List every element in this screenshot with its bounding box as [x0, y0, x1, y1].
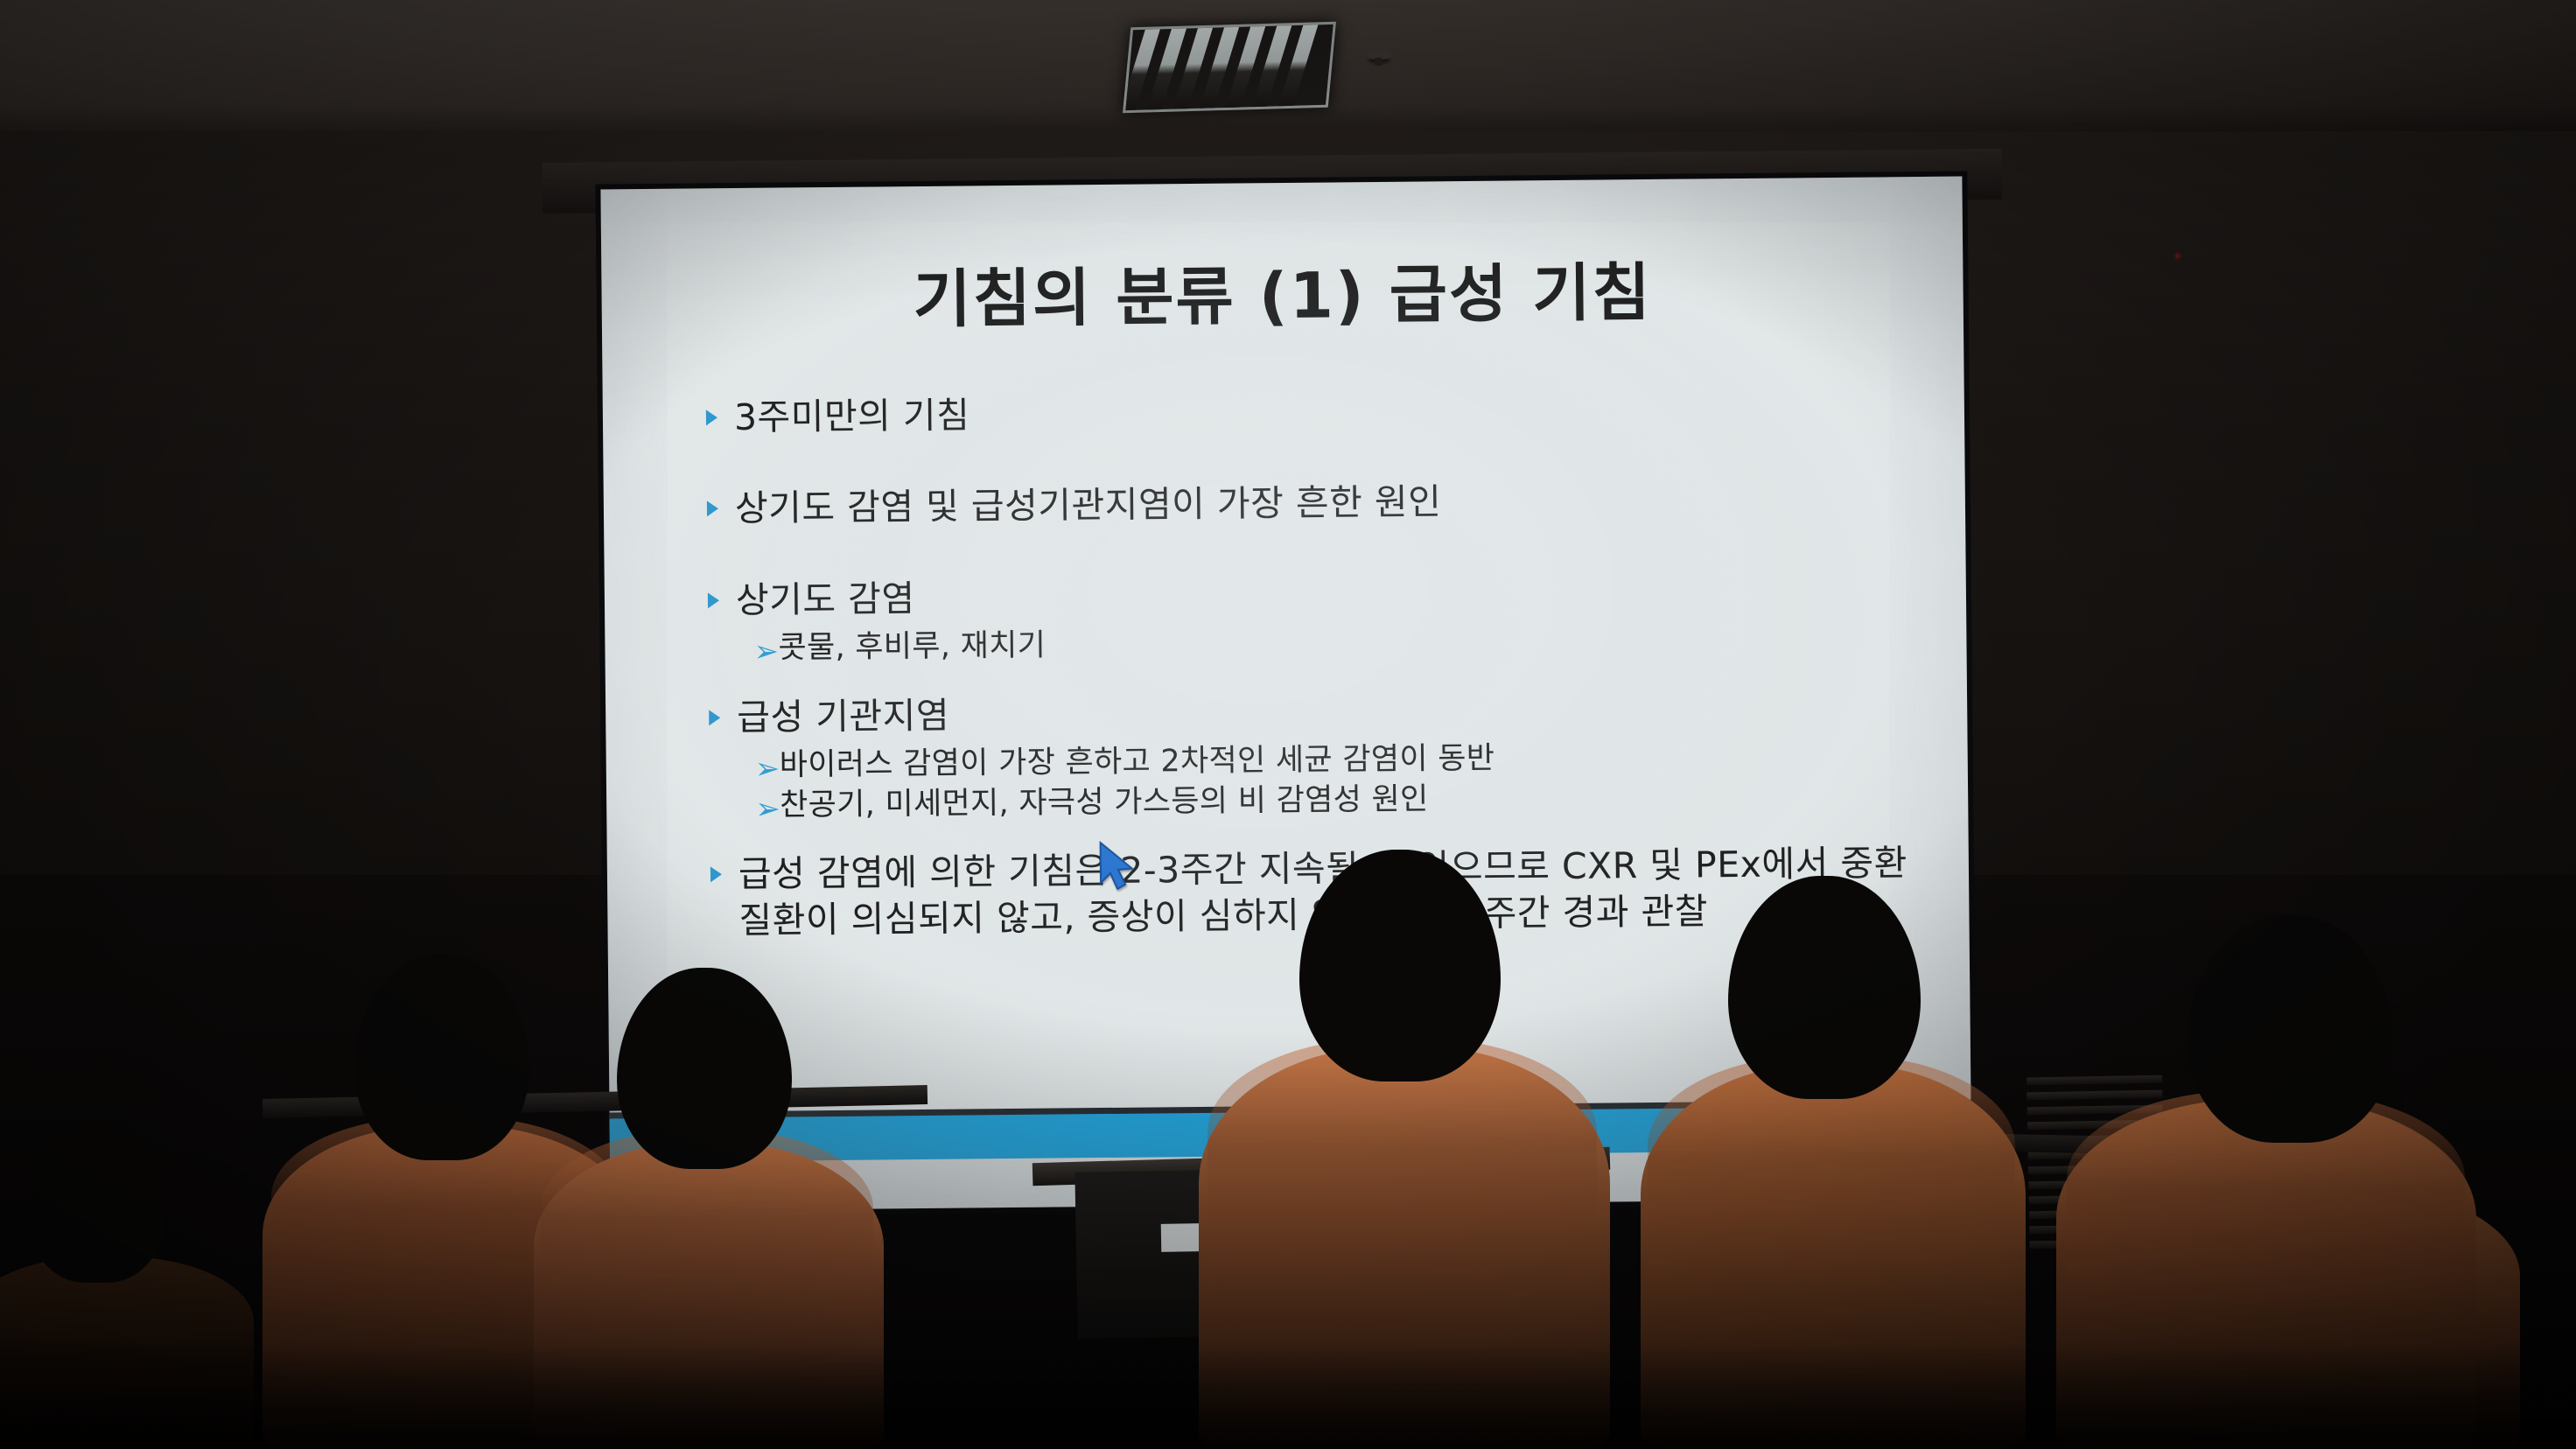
bullet-triangle-icon — [708, 577, 731, 608]
sub-bullet-arrow-icon: ➢ — [753, 630, 778, 667]
red-led-indicator-icon — [2175, 254, 2180, 258]
audience-member — [2056, 924, 2476, 1449]
sprinkler-head-icon — [1367, 51, 1391, 59]
audience-member — [0, 1160, 254, 1449]
bullet-triangle-icon — [710, 851, 733, 882]
bullet-item: 3주미만의 기침 — [706, 383, 1921, 441]
bullet-triangle-icon — [707, 486, 730, 517]
bullet-triangle-icon — [706, 395, 729, 425]
sub-bullet-arrow-icon: ➢ — [755, 787, 780, 823]
slide-bullet-list: 3주미만의 기침 상기도 감염 및 급성기관지염이 가장 흔한 원인 상기도 감… — [706, 383, 1926, 950]
bullet-text: 상기도 감염 및 급성기관지염이 가장 흔한 원인 — [735, 479, 1442, 532]
bullet-text: 3주미만의 기침 — [734, 392, 970, 440]
audience-member — [1641, 889, 2026, 1449]
sub-bullet-arrow-icon: ➢ — [755, 747, 780, 784]
audience-member — [1199, 871, 1610, 1449]
sub-bullet-text: 바이러스 감염이 가장 흔하고 2차적인 세균 감염이 동반 — [780, 740, 1495, 785]
sub-bullet-text: 콧물, 후비루, 재치기 — [778, 627, 1046, 668]
audience-member — [534, 976, 884, 1449]
sub-bullet-text: 찬공기, 미세먼지, 자극성 가스등의 비 감염성 원인 — [780, 780, 1429, 825]
bullet-text: 상기도 감염 — [736, 576, 915, 623]
bullet-triangle-icon — [709, 695, 731, 725]
air-vent-icon — [1123, 22, 1336, 113]
lecture-hall-scene: 기침의 분류 (1) 급성 기침 3주미만의 기침 상기도 감염 및 급성기관지… — [0, 0, 2576, 1449]
bullet-text: 급성 기관지염 — [737, 692, 949, 740]
slide-title: 기침의 분류 (1) 급성 기침 — [601, 238, 1963, 343]
